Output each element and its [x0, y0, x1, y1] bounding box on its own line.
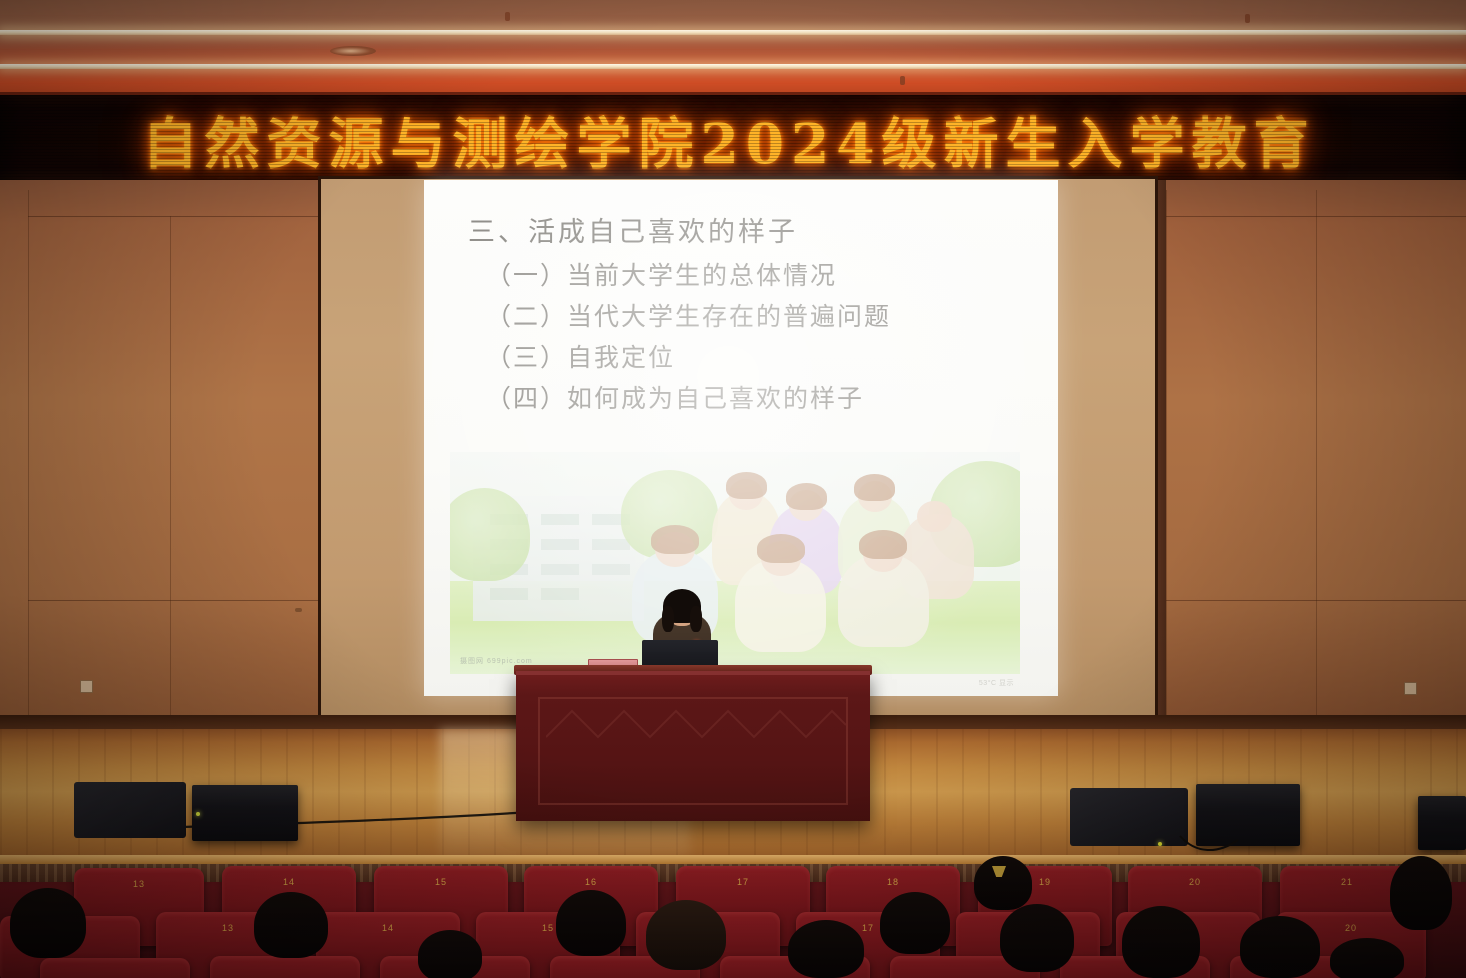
- wall-outlet-icon: [1404, 682, 1417, 695]
- audience-head: [254, 892, 328, 958]
- stage-front-lip: [0, 855, 1466, 864]
- seat-number: 16: [524, 877, 658, 887]
- panel-seam: [1316, 190, 1317, 720]
- slide-heading: 三、活成自己喜欢的样子: [468, 210, 1040, 249]
- podium-carving-icon: [546, 703, 846, 743]
- ceiling-light-strip-upper: [0, 30, 1466, 35]
- slide-item-4: （四）如何成为自己喜欢的样子: [486, 379, 1040, 415]
- ceiling-fixture-dot: [1245, 14, 1250, 23]
- ceiling-fixture-dot: [900, 76, 905, 85]
- photo-student-hair: [859, 530, 907, 559]
- audience-head: [646, 900, 726, 970]
- slide-corner-mark: 53°C 显示: [979, 679, 1014, 688]
- stage-monitor-left-2: [192, 785, 298, 841]
- ceiling-light-strip-lower: [0, 64, 1466, 69]
- stage-monitor-right-1: [1070, 788, 1188, 846]
- audience-head: [10, 888, 86, 958]
- ceiling-fixture-dot: [505, 12, 510, 21]
- photo-student-hair: [854, 474, 895, 501]
- seat-number: 18: [826, 877, 960, 887]
- stage-monitor-right-3: [1418, 796, 1466, 850]
- seat-number: 14: [222, 877, 356, 887]
- slide-item-3: （三）自我定位: [486, 338, 1040, 374]
- wall-screw-icon: [295, 608, 302, 612]
- audience-head: [1330, 938, 1404, 978]
- presenter-hair-side: [690, 606, 702, 632]
- audience-head: [880, 892, 950, 954]
- monitor-led-icon: [196, 812, 200, 816]
- panel-seam: [28, 600, 318, 601]
- led-banner-text: 自然资源与测绘学院2024级新生入学教育: [0, 95, 1462, 183]
- slide-photo: 摄图网 699pic.com: [450, 452, 1020, 674]
- led-banner: 自然资源与测绘学院2024级新生入学教育: [0, 92, 1466, 186]
- projected-slide: 三、活成自己喜欢的样子 （一）当前大学生的总体情况 （二）当代大学生存在的普遍问…: [424, 180, 1058, 696]
- audience-head: [1000, 904, 1074, 972]
- seat-number: 20: [1128, 877, 1262, 887]
- wall-outlet-icon: [80, 680, 93, 693]
- panel-seam: [28, 216, 318, 217]
- audience-head: [1122, 906, 1200, 978]
- seat[interactable]: [210, 956, 360, 978]
- ceiling: [0, 0, 1466, 96]
- seat[interactable]: [40, 958, 190, 978]
- wall-panel-left: [0, 180, 332, 732]
- stage-monitor-left-1: [74, 782, 186, 838]
- ceiling-vent-icon: [330, 46, 376, 56]
- slide-text-block: 三、活成自己喜欢的样子 （一）当前大学生的总体情况 （二）当代大学生存在的普遍问…: [458, 210, 1040, 420]
- photo-student-hair: [726, 472, 767, 499]
- slide-item-1: （一）当前大学生的总体情况: [486, 256, 1040, 292]
- audience-head: [556, 890, 626, 956]
- audience-head: [418, 930, 482, 978]
- seat-number: 13: [74, 879, 204, 889]
- photo-student-head: [917, 501, 951, 532]
- photo-student-hair: [757, 534, 805, 563]
- panel-seam: [1166, 190, 1167, 720]
- panel-seam: [28, 190, 29, 720]
- monitor-led-icon: [1158, 842, 1162, 846]
- auditorium-scene: 自然资源与测绘学院2024级新生入学教育 三、活成自己喜欢的样子 （一）当前大学…: [0, 0, 1466, 978]
- photo-student-hair: [651, 525, 699, 554]
- wall-panel-right: [1152, 180, 1466, 732]
- audience-head: [974, 856, 1032, 910]
- audience-head: [1240, 916, 1320, 978]
- audience-head: [788, 920, 864, 978]
- slide-item-2: （二）当代大学生存在的普遍问题: [486, 297, 1040, 333]
- seat-number: 17: [676, 877, 810, 887]
- audience-head: [1390, 856, 1452, 930]
- presenter-hair-side: [662, 606, 674, 632]
- panel-seam: [170, 216, 171, 716]
- podium-desk: [516, 671, 870, 821]
- photo-student-hair: [786, 483, 827, 510]
- seat-number: 15: [374, 877, 508, 887]
